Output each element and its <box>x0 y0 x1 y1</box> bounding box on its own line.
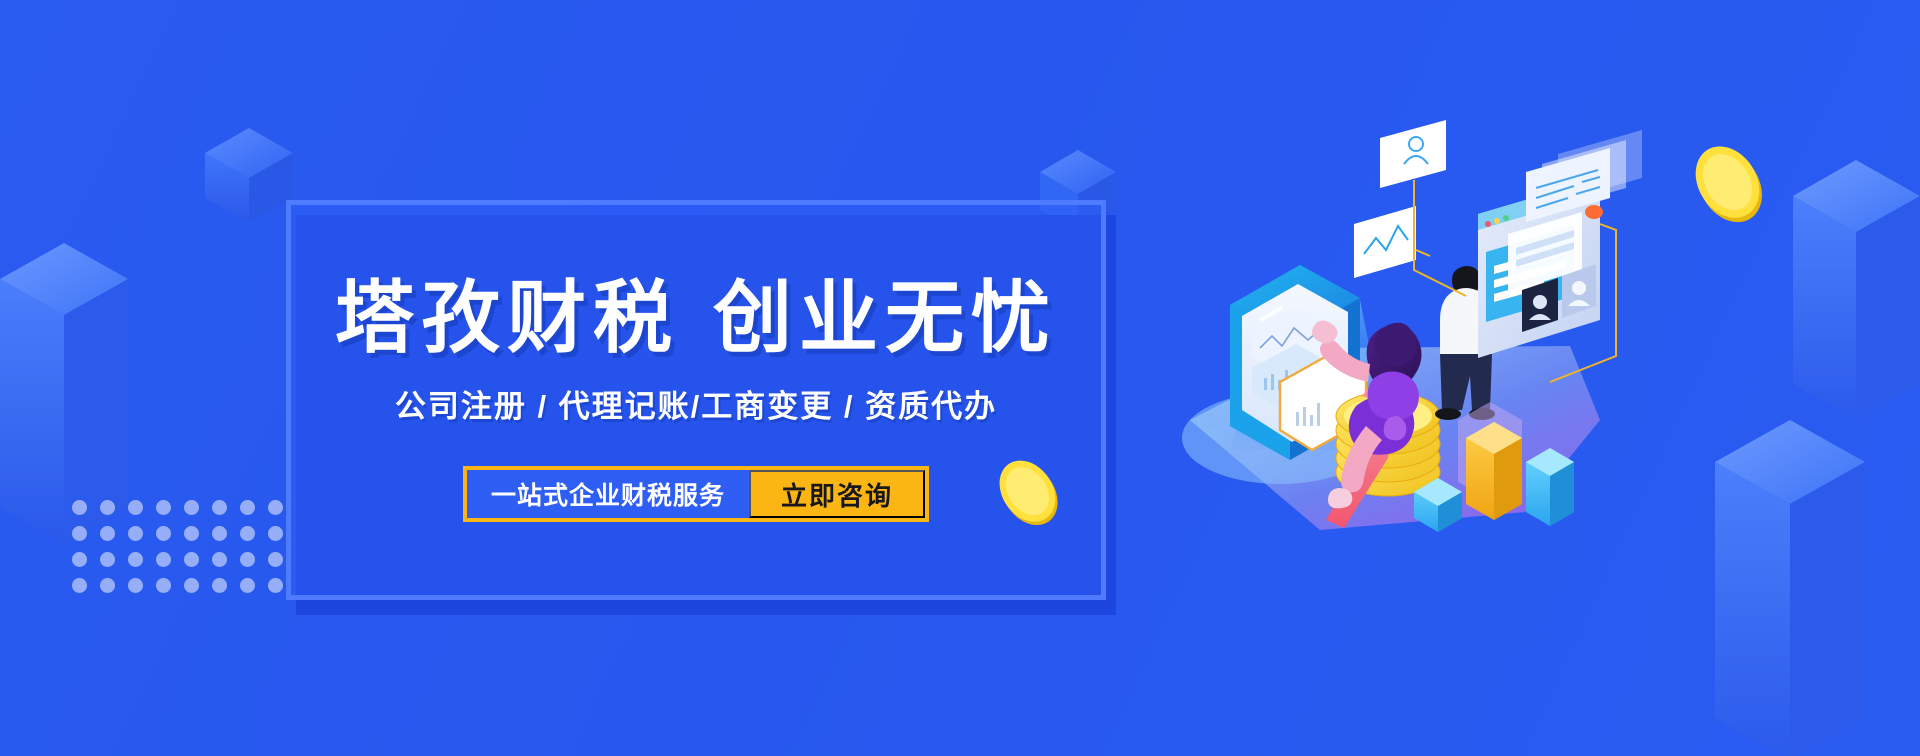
grid-dot <box>212 578 227 593</box>
service-list-subtitle: 公司注册 / 代理记账/工商变更 / 资质代办 <box>395 391 997 422</box>
cta-group: 一站式企业财税服务 立即咨询 <box>463 466 929 522</box>
grid-dot <box>212 526 227 541</box>
page-title: 塔孜财税创业无忧 <box>335 278 1057 357</box>
grid-dot <box>128 578 143 593</box>
grid-dot <box>212 552 227 567</box>
grid-dot <box>184 552 199 567</box>
cta-tag-label: 一站式企业财税服务 <box>467 470 749 518</box>
grid-dot <box>184 526 199 541</box>
prism-right-tall <box>1793 160 1920 420</box>
grid-dot <box>156 526 171 541</box>
prism-top-left-small <box>205 128 293 236</box>
grid-dot <box>184 500 199 515</box>
prism-right-lower <box>1715 420 1865 756</box>
grid-dot <box>72 500 87 515</box>
coin-top-right <box>1688 140 1768 226</box>
grid-dot <box>240 526 255 541</box>
grid-dot <box>100 578 115 593</box>
grid-dot <box>268 578 283 593</box>
headline-part-2: 创业无忧 <box>713 273 1057 362</box>
grid-dot <box>240 552 255 567</box>
grid-dot <box>240 578 255 593</box>
grid-dot <box>100 526 115 541</box>
consult-now-button[interactable]: 立即咨询 <box>749 470 925 518</box>
promo-banner: 塔孜财税创业无忧 公司注册 / 代理记账/工商变更 / 资质代办 一站式企业财税… <box>0 0 1920 756</box>
grid-dot <box>72 552 87 567</box>
grid-dot <box>100 500 115 515</box>
grid-dot <box>268 500 283 515</box>
grid-dot <box>240 500 255 515</box>
grid-dot <box>156 552 171 567</box>
grid-dot <box>184 578 199 593</box>
grid-dot <box>128 526 143 541</box>
fintech-isometric-scene <box>1130 120 1660 580</box>
grid-dot <box>156 500 171 515</box>
grid-dot <box>212 500 227 515</box>
line-chart-card <box>1354 206 1416 278</box>
grid-dot <box>72 526 87 541</box>
grid-dot <box>128 500 143 515</box>
headline-part-1: 塔孜财税 <box>335 273 679 362</box>
grid-dot <box>268 552 283 567</box>
grid-dot <box>72 578 87 593</box>
prism-left-tall <box>0 243 128 543</box>
dot-grid-decoration <box>72 500 258 592</box>
contact-card-popup <box>1380 120 1446 188</box>
grid-dot <box>268 526 283 541</box>
coin-near-cta <box>994 455 1062 529</box>
grid-dot <box>100 552 115 567</box>
grid-dot <box>156 578 171 593</box>
hero-frame: 塔孜财税创业无忧 公司注册 / 代理记账/工商变更 / 资质代办 一站式企业财税… <box>286 200 1106 600</box>
grid-dot <box>128 552 143 567</box>
